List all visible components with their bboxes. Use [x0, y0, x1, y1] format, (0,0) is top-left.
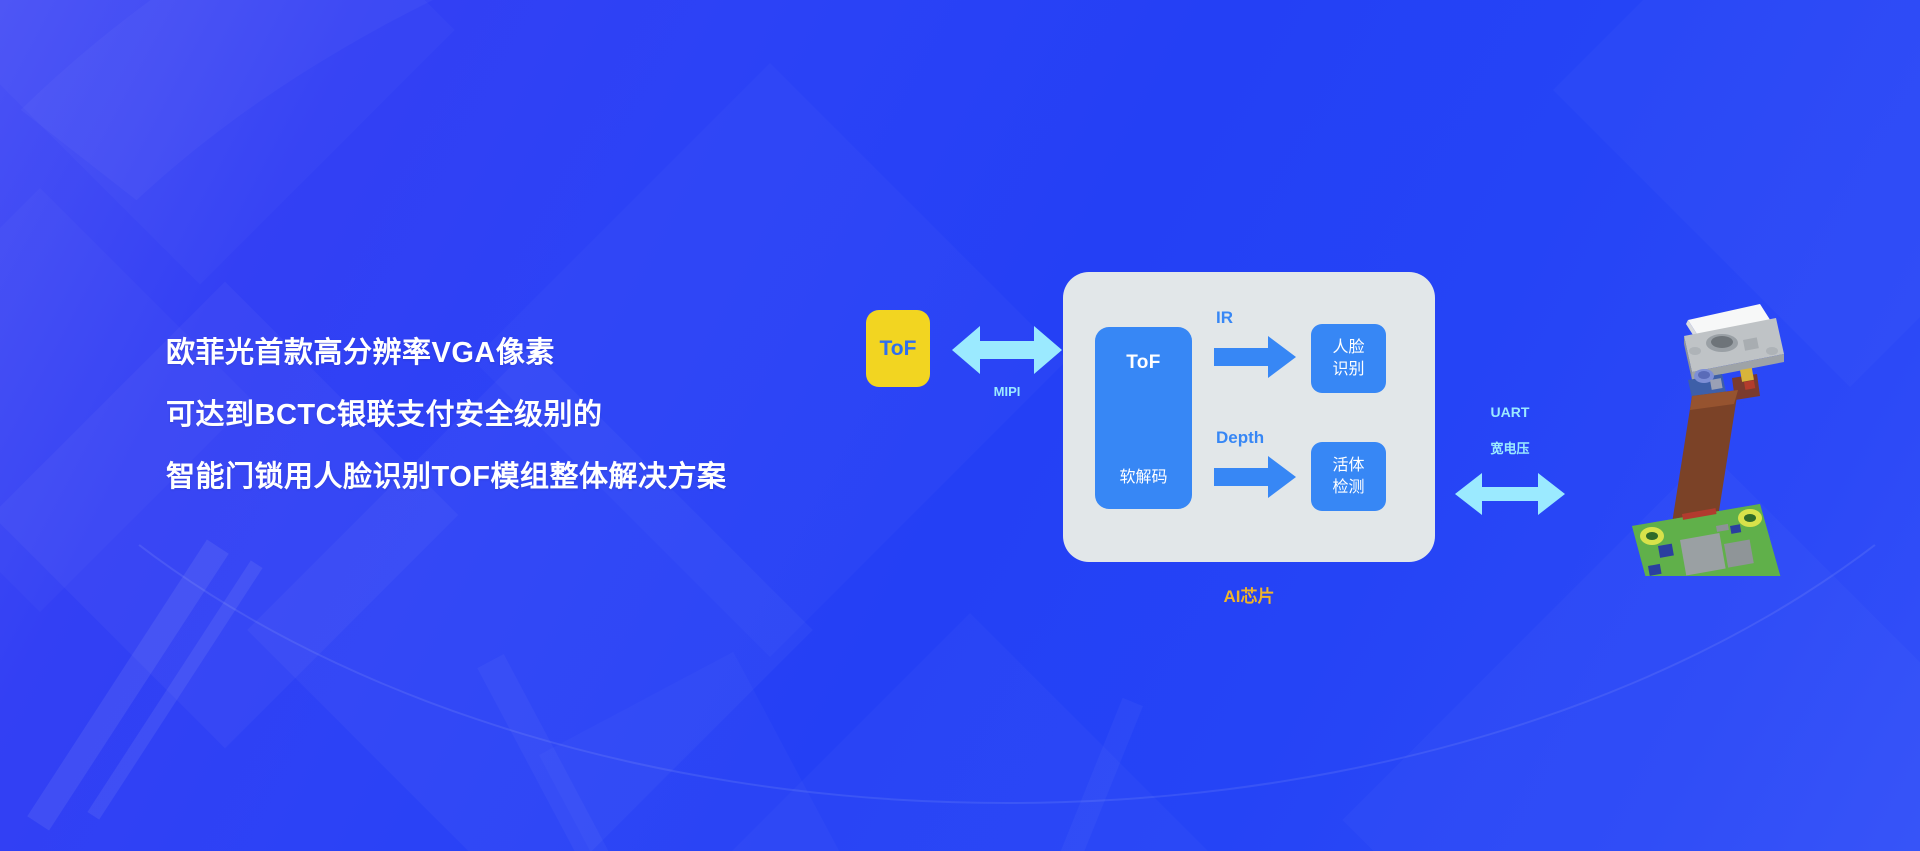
background-chevron-5: [999, 698, 1143, 851]
uart-label: UART: [1450, 404, 1570, 420]
background-diamond-5: [673, 613, 1267, 851]
liveness-detection-line-1: 活体: [1332, 457, 1364, 474]
face-recognition-line-1: 人脸: [1332, 339, 1364, 356]
background-diamond-8: [0, 0, 455, 285]
face-recognition-block: 人脸 识别: [1311, 324, 1386, 393]
banner-canvas: 欧菲光首款高分辨率VGA像素 可达到BCTC银联支付安全级别的 智能门锁用人脸识…: [0, 0, 1920, 851]
headline-line-2: 可达到BCTC银联支付安全级别的: [166, 384, 806, 446]
depth-stream-label: Depth: [1216, 428, 1264, 448]
tof-processor-block: ToF 软解码: [1095, 327, 1192, 509]
liveness-detection-line-2: 检测: [1332, 479, 1364, 496]
liveness-detection-block: 活体 检测: [1311, 442, 1386, 511]
background-chevron-4: [539, 652, 921, 851]
ir-arrow-icon: [1214, 336, 1296, 378]
headline-line-3: 智能门锁用人脸识别TOF模组整体解决方案: [166, 446, 806, 508]
hardware-module-photo: [1612, 296, 1912, 576]
mipi-label: MIPI: [962, 384, 1052, 399]
headline-line-1: 欧菲光首款高分辨率VGA像素: [166, 322, 806, 384]
tof-sensor-label: ToF: [880, 337, 917, 361]
tof-processor-title: ToF: [1126, 352, 1161, 374]
background-chevron-3: [477, 654, 672, 851]
background-chevron-1: [27, 540, 229, 831]
ir-stream-label: IR: [1216, 308, 1233, 328]
headline: 欧菲光首款高分辨率VGA像素 可达到BCTC银联支付安全级别的 智能门锁用人脸识…: [166, 322, 806, 508]
mipi-double-arrow-icon: [952, 322, 1062, 378]
uart-double-arrow-icon: [1455, 470, 1565, 518]
background-chevron-2: [87, 560, 262, 819]
hardware-part-green-pcb: [1630, 504, 1782, 576]
face-recognition-line-2: 识别: [1332, 361, 1364, 378]
wide-voltage-label: 宽电压: [1450, 438, 1570, 457]
depth-arrow-icon: [1214, 456, 1296, 498]
ai-chip-caption: AI芯片: [1063, 582, 1435, 607]
tof-sensor-block: ToF: [866, 310, 930, 387]
tof-processor-subtitle: 软解码: [1119, 463, 1167, 487]
